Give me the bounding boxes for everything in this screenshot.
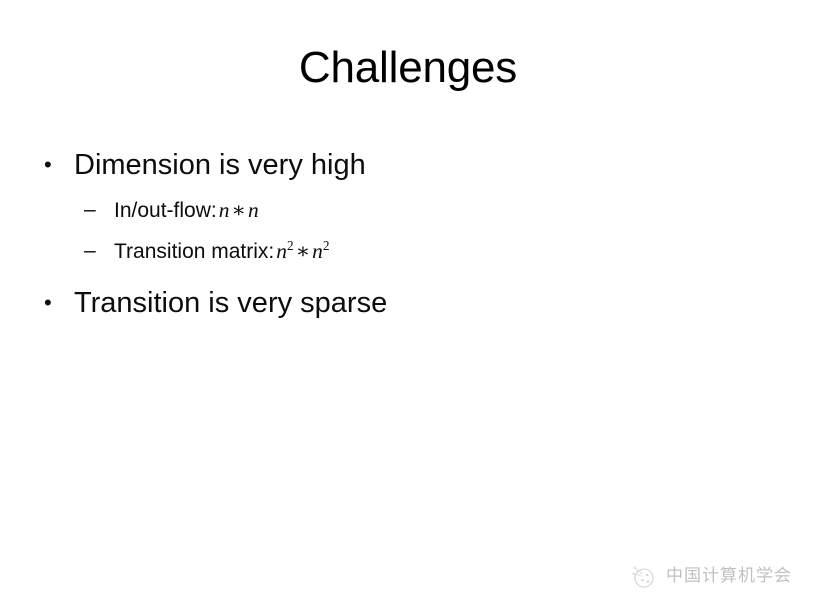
bullet-item-level1: • Transition is very sparse [36, 282, 780, 324]
bullet-dot-icon: • [44, 144, 52, 186]
bullet-text: Dimension is very high [74, 149, 366, 181]
slide-title: Challenges [0, 42, 816, 94]
slide-body: • Dimension is very high – In/out-flow:n… [36, 144, 780, 330]
bullet-label: Transition matrix: [114, 240, 274, 263]
math-left-base: n [219, 198, 230, 222]
watermark: 中国计算机学会 [628, 561, 792, 591]
slide-canvas: Challenges • Dimension is very high – In… [0, 0, 816, 607]
math-operator: ∗ [229, 198, 248, 222]
bullet-label: In/out-flow: [114, 199, 217, 222]
math-right-base: n [248, 198, 259, 222]
math-left-exponent: 2 [287, 238, 294, 253]
math-expression: n2∗n2 [274, 239, 329, 263]
math-expression: n∗n [217, 198, 259, 222]
math-right-exponent: 2 [323, 238, 330, 253]
bullet-item-level1: • Dimension is very high [36, 144, 780, 186]
math-operator: ∗ [294, 239, 313, 263]
math-right-base: n [312, 239, 323, 263]
watermark-text: 中国计算机学会 [666, 566, 792, 586]
math-left-base: n [276, 239, 287, 263]
bullet-item-level2: – In/out-flow:n∗n [36, 192, 780, 229]
ccf-circle-logo-icon [628, 561, 658, 591]
bullet-dash-icon: – [84, 192, 96, 228]
bullet-text: Transition is very sparse [74, 287, 387, 319]
bullet-dash-icon: – [84, 233, 96, 269]
bullet-item-level2: – Transition matrix:n2∗n2 [36, 233, 780, 270]
bullet-dot-icon: • [44, 282, 52, 324]
